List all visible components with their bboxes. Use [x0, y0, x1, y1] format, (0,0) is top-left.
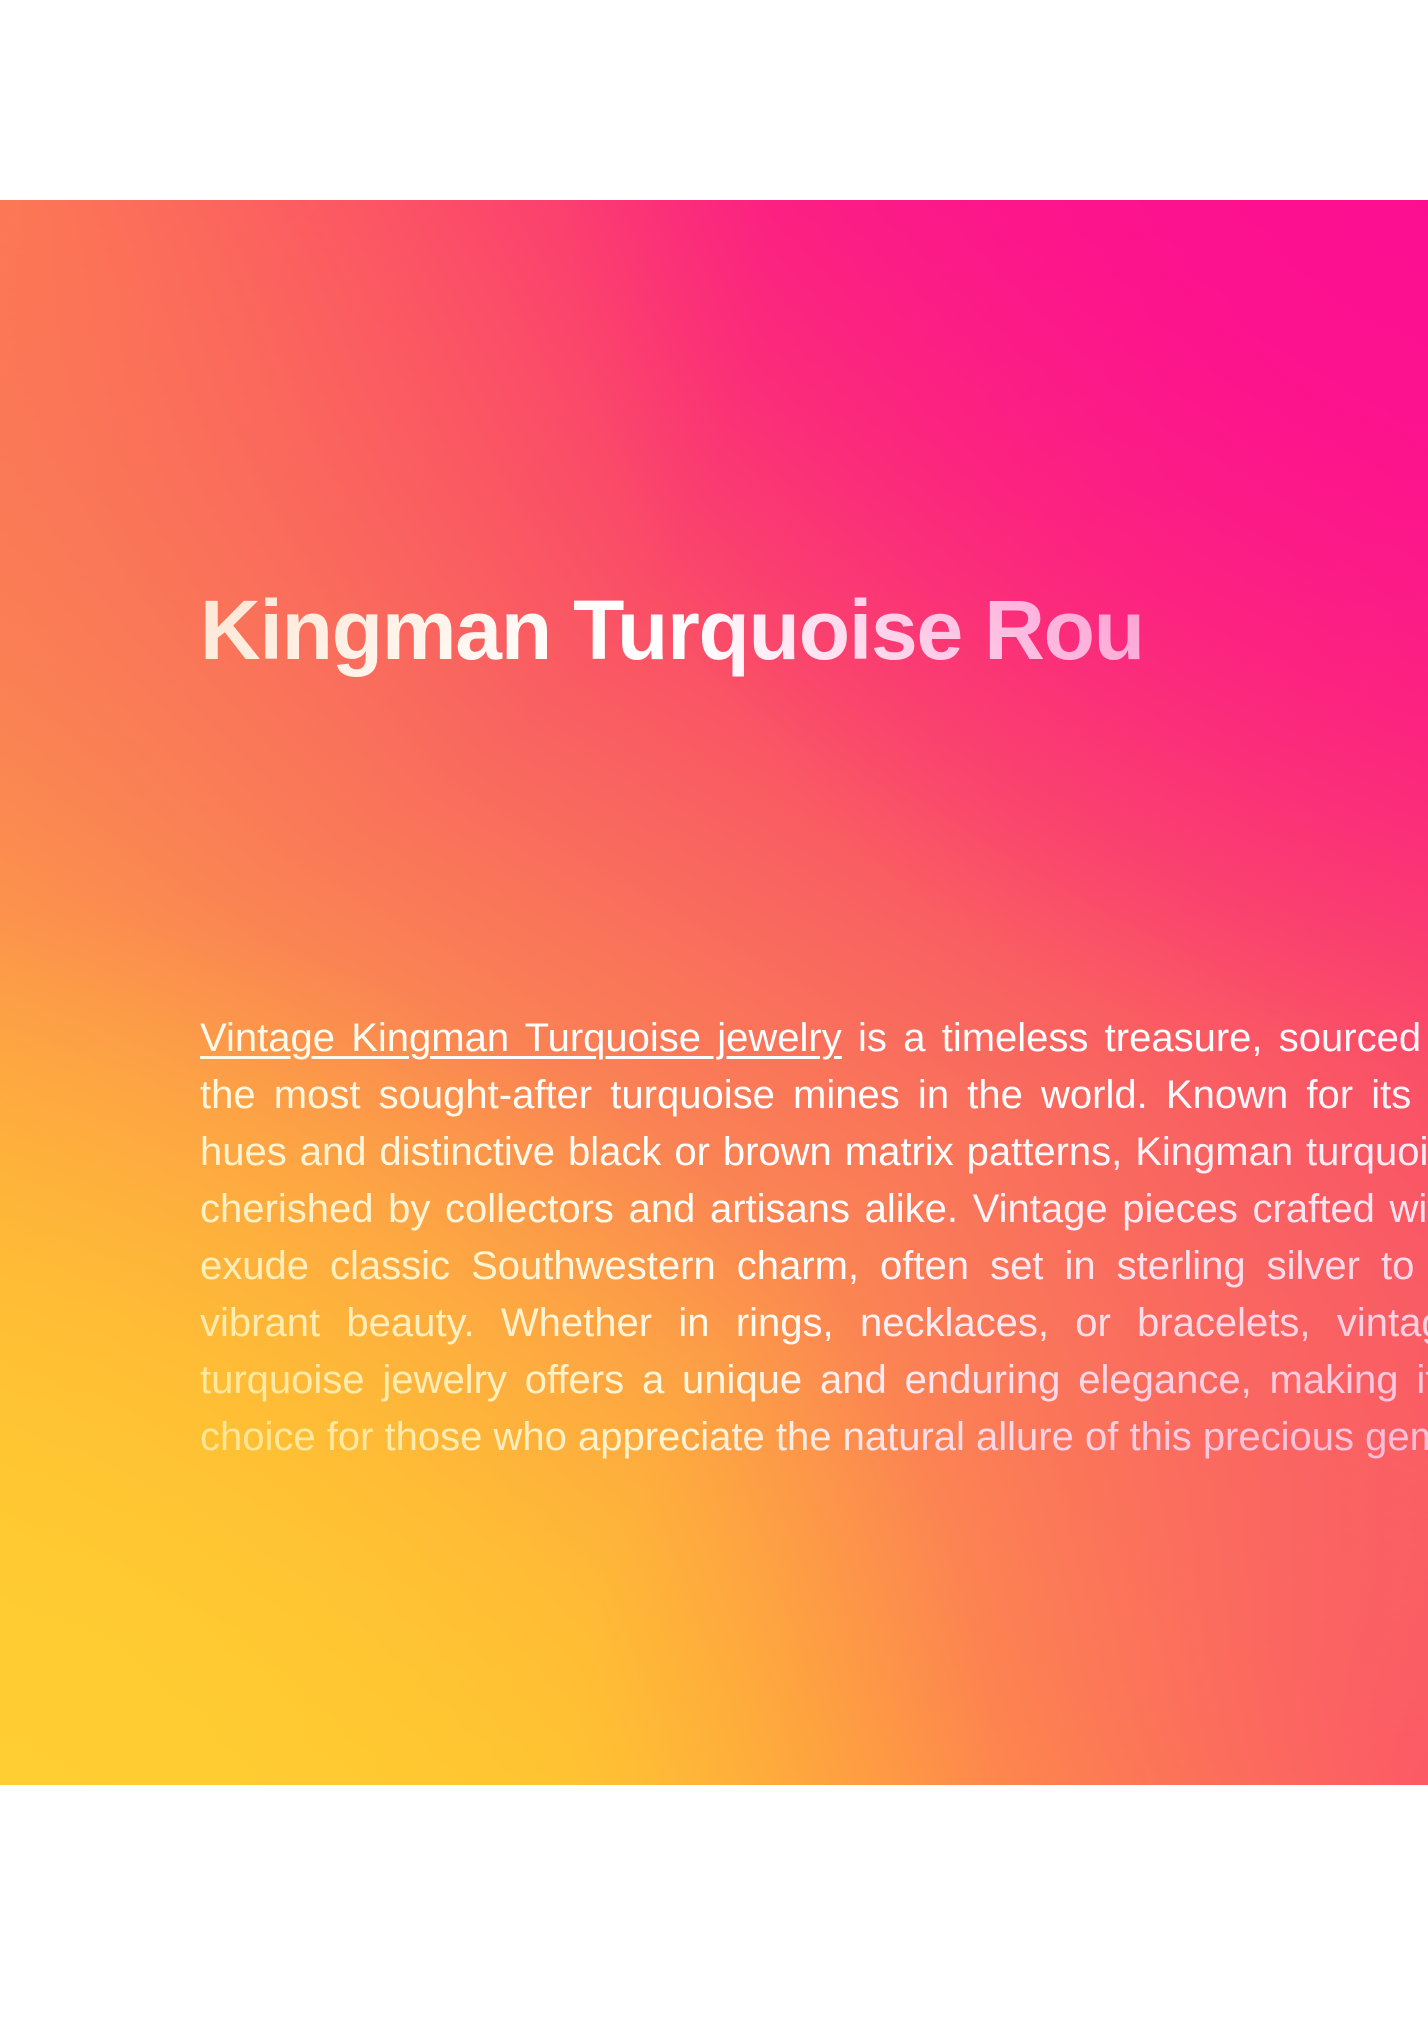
bottom-white-band: [0, 1785, 1428, 2018]
hero-body-paragraph: Vintage Kingman Turquoise jewelry is a t…: [200, 1010, 1428, 1466]
vintage-kingman-turquoise-jewelry-link[interactable]: Vintage Kingman Turquoise jewelry: [200, 1016, 842, 1060]
top-white-band: [0, 0, 1428, 200]
hero-body-text: is a timeless treasure, sourced from one…: [200, 1016, 1428, 1459]
page-root: Kingman Turquoise Rou Vintage Kingman Tu…: [0, 0, 1428, 2018]
page-title: Kingman Turquoise Rou: [200, 586, 1428, 675]
gradient-hero-section: Kingman Turquoise Rou Vintage Kingman Tu…: [0, 200, 1428, 1785]
hero-content-column: Kingman Turquoise Rou Vintage Kingman Tu…: [200, 200, 1428, 1785]
